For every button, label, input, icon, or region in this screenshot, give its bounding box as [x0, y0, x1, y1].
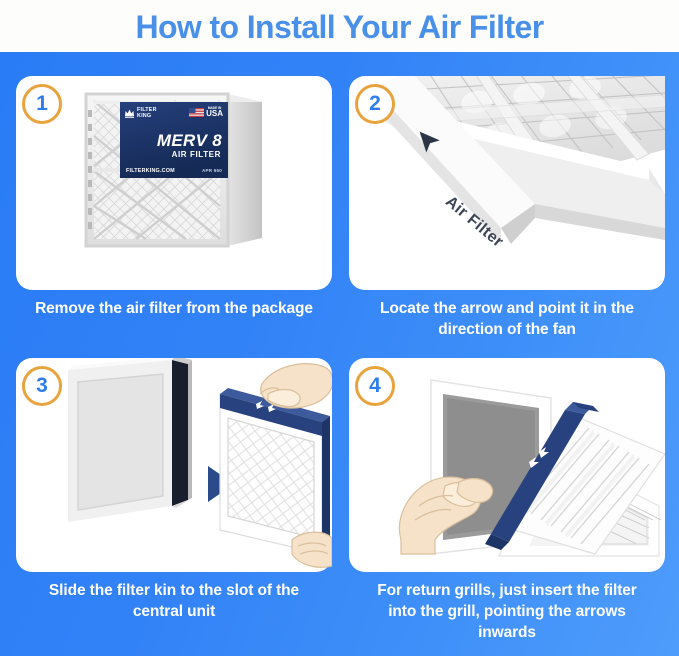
product-subtitle: AIR FILTER	[120, 150, 221, 159]
step-caption-4: For return grills, just insert the filte…	[363, 581, 651, 644]
step-badge-1: 1	[22, 84, 62, 124]
step-panel-3: 3	[16, 358, 332, 572]
filter-king-crown-icon	[124, 108, 135, 119]
step-number-4: 4	[369, 374, 381, 398]
step-caption-1: Remove the air filter from the package	[16, 299, 332, 320]
infographic-page: How to Install Your Air Filter	[0, 0, 679, 656]
page-title: How to Install Your Air Filter	[135, 11, 543, 43]
step-badge-2: 2	[355, 84, 395, 124]
title-band: How to Install Your Air Filter	[0, 0, 679, 52]
step-number-1: 1	[36, 92, 48, 116]
merv-rating: MERV 8	[120, 131, 222, 151]
step-panel-4: 4	[349, 358, 665, 572]
product-label: FILTER KING	[120, 104, 228, 180]
step-panel-2: Air Filter 2	[349, 76, 665, 290]
brand-line-2: KING	[137, 114, 157, 119]
step-badge-3: 3	[22, 366, 62, 406]
step-caption-2: Locate the arrow and point it in the dir…	[366, 299, 648, 341]
flag-caption: USA	[206, 110, 223, 118]
step-2-artwork	[349, 76, 665, 272]
step-caption-3: Slide the filter kin to the slot of the …	[30, 581, 318, 623]
step-number-3: 3	[36, 374, 48, 398]
step-number-2: 2	[369, 92, 381, 116]
step-4-artwork	[349, 358, 665, 572]
step-panel-1: FILTER KING	[16, 76, 332, 290]
product-website: FILTERKING.COM	[126, 168, 175, 174]
step-badge-4: 4	[355, 366, 395, 406]
apr-rating: APR 650	[202, 168, 222, 173]
step-3-artwork	[16, 358, 332, 572]
usa-flag-icon	[189, 108, 204, 117]
